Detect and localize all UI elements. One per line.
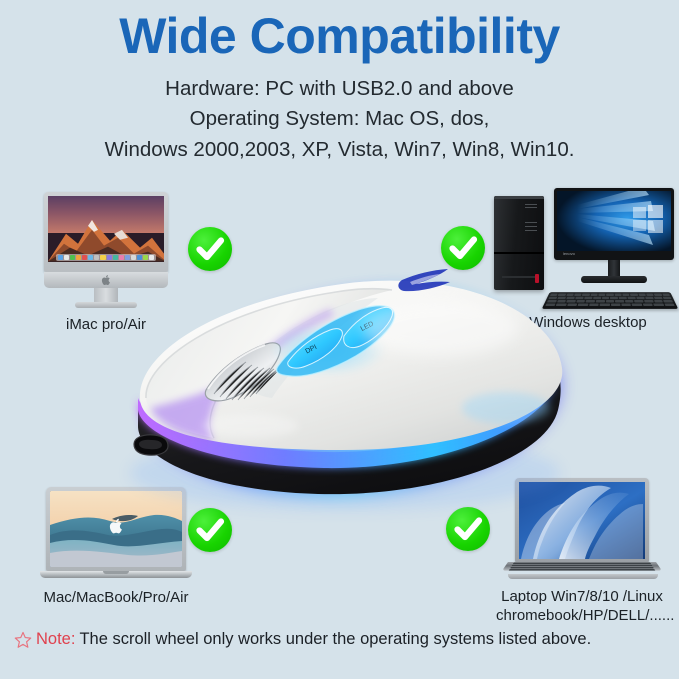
highlight-top	[362, 300, 518, 356]
note-label: Note:	[36, 630, 75, 649]
monitor-stand-neck	[608, 260, 620, 276]
caption-laptop: Laptop Win7/8/10 /Linux chromebook/HP/DE…	[496, 588, 668, 626]
caption-macbook: Mac/MacBook/Pro/Air	[40, 589, 192, 608]
monitor-stand-base	[581, 276, 647, 283]
monitor-chin: lenovo	[557, 251, 671, 257]
macbook-base	[40, 571, 192, 578]
spec-line-windows-versions: Windows 2000,2003, XP, Vista, Win7, Win8…	[0, 135, 679, 165]
caption-laptop-line2: chromebook/HP/DELL/......	[496, 607, 668, 626]
note-text: The scroll wheel only works under the op…	[79, 630, 591, 649]
page-title: Wide Compatibility	[0, 8, 679, 64]
macbook-lid-notch	[103, 571, 129, 574]
monitor-bezel: lenovo	[554, 188, 674, 260]
highlight-rgb-right	[462, 392, 550, 424]
caption-laptop-line1: Laptop Win7/8/10 /Linux	[496, 588, 668, 607]
spec-line-os: Operating System: Mac OS, dos,	[0, 104, 679, 134]
lenovo-logo: lenovo	[563, 251, 575, 256]
mouse-illustration: DPI LED	[110, 258, 580, 523]
laptop-base-foot	[508, 574, 658, 579]
compatibility-spec-text: Hardware: PC with USB2.0 and above Opera…	[0, 74, 679, 165]
imac-screen	[48, 196, 164, 262]
laptop-keyboard	[502, 562, 662, 571]
product-image-mouse: DPI LED	[110, 258, 580, 523]
compatibility-infographic: Wide Compatibility Hardware: PC with USB…	[0, 0, 679, 679]
usb-c-charging-port	[134, 435, 168, 455]
monitor-screen	[557, 191, 671, 251]
spec-line-hardware: Hardware: PC with USB2.0 and above	[0, 74, 679, 104]
note-row: Note: The scroll wheel only works under …	[14, 630, 591, 649]
windows-wallpaper	[557, 191, 671, 251]
highlight-left	[202, 414, 298, 438]
star-icon	[14, 631, 32, 649]
